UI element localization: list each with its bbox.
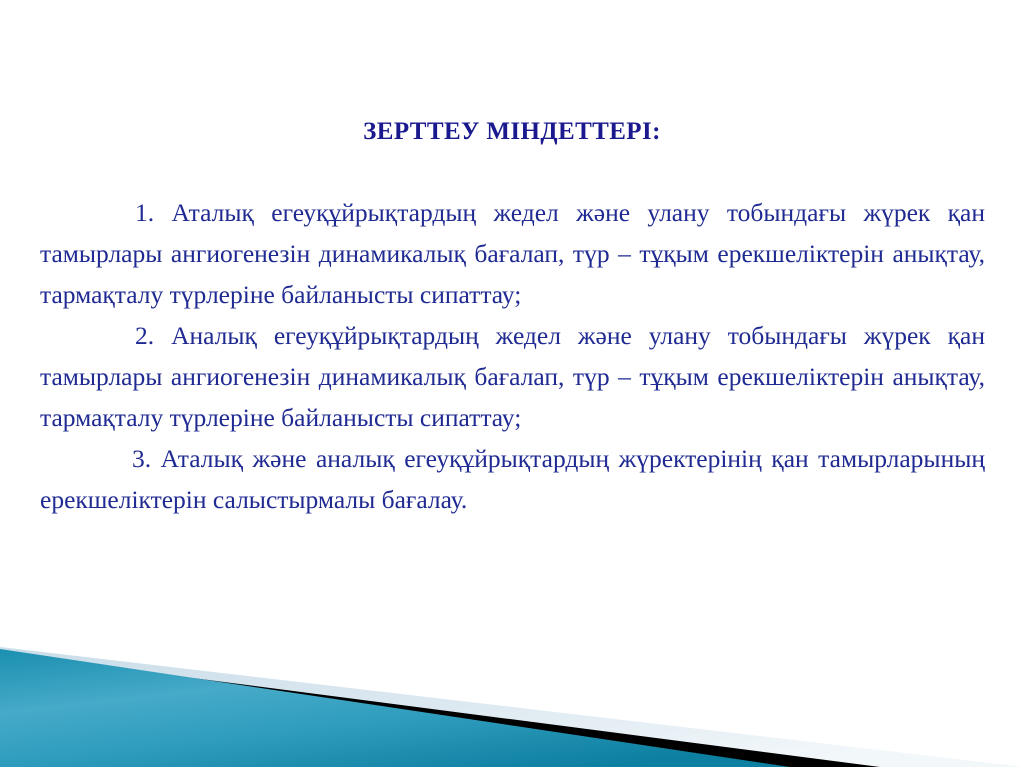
- diagonal-banner: [0, 627, 1024, 767]
- page-title: ЗЕРТТЕУ МІНДЕТТЕРІ:: [0, 118, 1024, 146]
- objective-item-1: 1. Аталық егеуқұйрықтардың жедел және ул…: [40, 192, 985, 315]
- diagonal-banner-svg: [0, 627, 1024, 767]
- presentation-slide: ЗЕРТТЕУ МІНДЕТТЕРІ: 1. Аталық егеуқұйрық…: [0, 0, 1024, 767]
- objective-item-3: 3. Аталық және аналық егеуқұйрықтардың ж…: [40, 438, 985, 520]
- banner-pale-blue-band: [0, 647, 1024, 767]
- slide-body: 1. Аталық егеуқұйрықтардың жедел және ул…: [40, 192, 985, 520]
- objective-item-2: 2. Аналық егеуқұйрықтардың жедел және ул…: [40, 315, 985, 438]
- banner-teal-wedge: [0, 649, 790, 767]
- banner-black-band: [0, 653, 880, 767]
